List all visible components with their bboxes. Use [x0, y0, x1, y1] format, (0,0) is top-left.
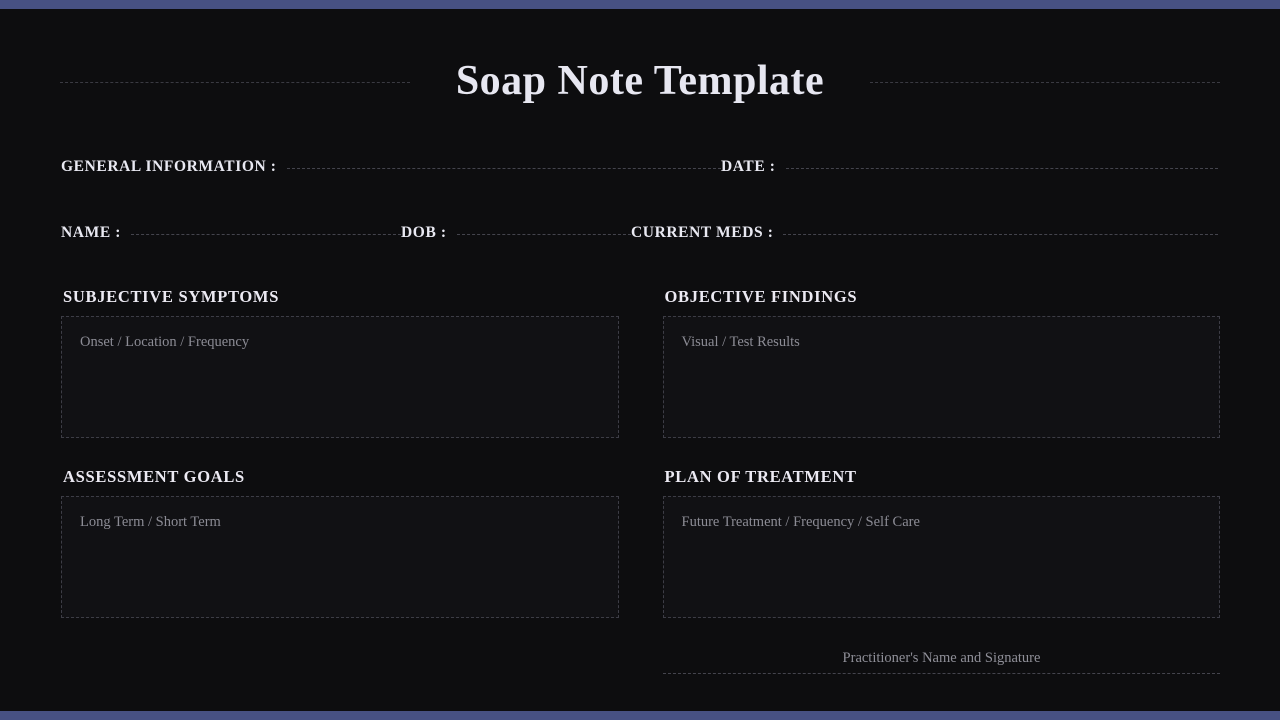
- section-heading-subjective-symptoms: SUBJECTIVE SYMPTOMS: [63, 288, 619, 306]
- dob-input-line[interactable]: [457, 234, 631, 235]
- name-input-line[interactable]: [131, 234, 401, 235]
- note-box-assessment-goals[interactable]: Long Term / Short Term: [61, 496, 619, 618]
- title-rule-right: [870, 82, 1220, 83]
- note-box-subjective-symptoms[interactable]: Onset / Location / Frequency: [61, 316, 619, 438]
- section-subjective-symptoms: SUBJECTIVE SYMPTOMS Onset / Location / F…: [61, 288, 619, 438]
- signature-input-line[interactable]: [663, 673, 1220, 674]
- sections-row-top: SUBJECTIVE SYMPTOMS Onset / Location / F…: [61, 288, 1220, 438]
- note-placeholder-assessment-goals: Long Term / Short Term: [80, 513, 600, 532]
- dob-field[interactable]: DOB :: [401, 224, 631, 242]
- sections-row-bottom: ASSESSMENT GOALS Long Term / Short Term …: [61, 468, 1220, 618]
- signature-caption: Practitioner's Name and Signature: [663, 650, 1220, 673]
- date-input-line[interactable]: [786, 168, 1218, 169]
- note-placeholder-objective-findings: Visual / Test Results: [682, 333, 1202, 352]
- note-placeholder-subjective-symptoms: Onset / Location / Frequency: [80, 333, 600, 352]
- sections-grid: SUBJECTIVE SYMPTOMS Onset / Location / F…: [61, 288, 1220, 618]
- top-accent-bar: [0, 0, 1280, 9]
- section-heading-plan-of-treatment: PLAN OF TREATMENT: [665, 468, 1221, 486]
- patient-information-row: NAME : DOB : CURRENT MEDS :: [61, 224, 1218, 242]
- section-heading-objective-findings: OBJECTIVE FINDINGS: [665, 288, 1221, 306]
- title-rule-left: [60, 82, 410, 83]
- page-title: Soap Note Template: [410, 60, 870, 102]
- section-plan-of-treatment: PLAN OF TREATMENT Future Treatment / Fre…: [663, 468, 1221, 618]
- general-information-row: GENERAL INFORMATION : DATE :: [61, 158, 1218, 176]
- name-field[interactable]: NAME :: [61, 224, 401, 242]
- general-information-label: GENERAL INFORMATION :: [61, 158, 277, 176]
- general-information-field[interactable]: GENERAL INFORMATION :: [61, 158, 721, 176]
- general-information-input-line[interactable]: [287, 168, 721, 169]
- soap-note-page: Soap Note Template GENERAL INFORMATION :…: [0, 0, 1280, 720]
- title-row: Soap Note Template: [60, 52, 1220, 110]
- dob-label: DOB :: [401, 224, 447, 242]
- date-label: DATE :: [721, 158, 776, 176]
- bottom-accent-bar: [0, 711, 1280, 720]
- date-field[interactable]: DATE :: [721, 158, 1218, 176]
- current-meds-label: CURRENT MEDS :: [631, 224, 773, 242]
- name-label: NAME :: [61, 224, 121, 242]
- current-meds-input-line[interactable]: [783, 234, 1218, 235]
- section-objective-findings: OBJECTIVE FINDINGS Visual / Test Results: [663, 288, 1221, 438]
- note-box-plan-of-treatment[interactable]: Future Treatment / Frequency / Self Care: [663, 496, 1221, 618]
- sections-row-spacer: [61, 438, 1220, 468]
- section-assessment-goals: ASSESSMENT GOALS Long Term / Short Term: [61, 468, 619, 618]
- section-heading-assessment-goals: ASSESSMENT GOALS: [63, 468, 619, 486]
- note-box-objective-findings[interactable]: Visual / Test Results: [663, 316, 1221, 438]
- current-meds-field[interactable]: CURRENT MEDS :: [631, 224, 1218, 242]
- note-placeholder-plan-of-treatment: Future Treatment / Frequency / Self Care: [682, 513, 1202, 532]
- signature-field[interactable]: Practitioner's Name and Signature: [663, 650, 1220, 674]
